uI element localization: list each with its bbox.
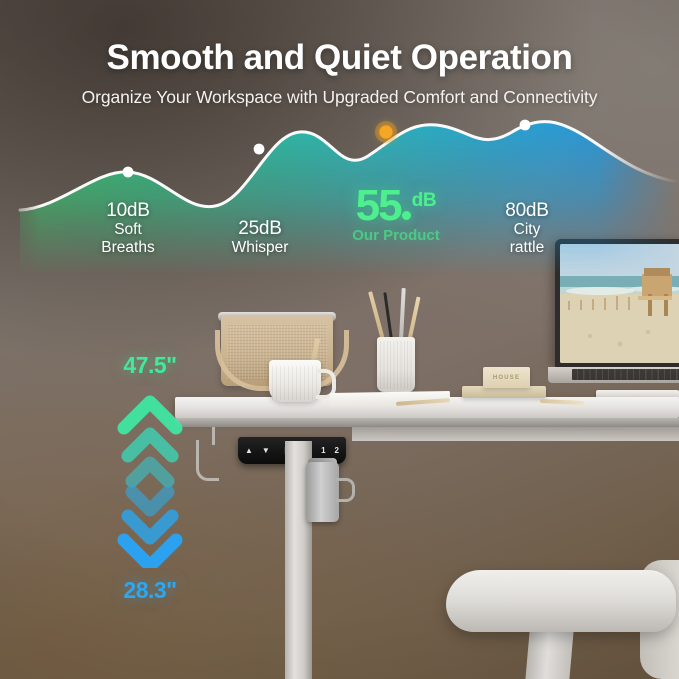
- noise-label-80db: 80dB City rattle: [472, 200, 582, 256]
- control-panel-arrows: ▲ ▼: [245, 446, 270, 455]
- noise-value-10db: 10dB: [70, 200, 186, 221]
- chevron-svg: [84, 388, 216, 568]
- noise-desc-25db: Whisper: [205, 239, 315, 256]
- desk-motor-housing: [306, 462, 339, 522]
- noise-label-25db: 25dB Whisper: [205, 218, 315, 257]
- hero-noise-unit: dB: [412, 190, 437, 211]
- pencil-wood-2: [407, 297, 420, 343]
- manual-crank-handle: [336, 478, 355, 502]
- product-marketing-image: HOUSE ▲ ▼ Adwisic 1 2 Smooth and Quiet O…: [0, 0, 679, 679]
- desk-edge: [175, 418, 679, 427]
- preset-button-1[interactable]: 1: [321, 446, 325, 455]
- pen-cup-ribbed-texture: [380, 341, 412, 389]
- noise-value-25db: 25dB: [205, 218, 315, 239]
- height-min-label: 28.3": [84, 577, 216, 604]
- hero-value-row: 55dB: [336, 186, 456, 226]
- hero-product-tag: Our Product: [336, 227, 456, 244]
- pencil-wood: [368, 291, 385, 340]
- marker-dot-55db-our-product: [379, 125, 392, 138]
- page-title: Smooth and Quiet Operation: [0, 38, 679, 78]
- noise-value-80db: 80dB: [472, 200, 582, 221]
- noise-desc-10db-line2: Breaths: [70, 239, 186, 256]
- chevron-down-1: [132, 492, 168, 510]
- noise-desc-80db-line2: rattle: [472, 239, 582, 256]
- noise-desc-80db-line1: City: [472, 221, 582, 238]
- hero-dot-marker: [402, 211, 411, 220]
- height-chevron-arrows: [84, 388, 216, 568]
- house-decor-block: HOUSE: [483, 367, 530, 388]
- height-max-label: 47.5": [84, 352, 216, 379]
- noise-desc-10db-line1: Soft: [70, 221, 186, 238]
- house-block-label: HOUSE: [493, 375, 520, 381]
- marker-dot-80db: [520, 120, 531, 131]
- mug-ribbed-texture: [272, 366, 318, 400]
- preset-button-2[interactable]: 2: [335, 446, 339, 455]
- our-product-noise-highlight: 55dB Our Product: [336, 186, 456, 244]
- marker-dot-10db: [123, 167, 134, 178]
- marker-dot-25db: [254, 144, 265, 155]
- chevron-down-2: [128, 516, 172, 538]
- arrow-down-icon[interactable]: ▼: [262, 446, 270, 455]
- laptop-keyboard: [572, 369, 679, 380]
- chair-armrest: [446, 570, 676, 632]
- control-panel-presets: 1 2: [321, 446, 339, 455]
- pen-silver: [399, 288, 406, 340]
- pen-black: [383, 292, 393, 340]
- chevron-up-3: [132, 463, 168, 481]
- chevron-up-2: [128, 434, 172, 456]
- height-range-indicator: 47.5" 28.3": [84, 352, 216, 602]
- arrow-up-icon[interactable]: ▲: [245, 446, 253, 455]
- desk-underside: [352, 427, 679, 441]
- chevron-up-1: [124, 402, 176, 428]
- noise-label-10db: 10dB Soft Breaths: [70, 200, 186, 256]
- hero-noise-value: 55: [356, 186, 401, 226]
